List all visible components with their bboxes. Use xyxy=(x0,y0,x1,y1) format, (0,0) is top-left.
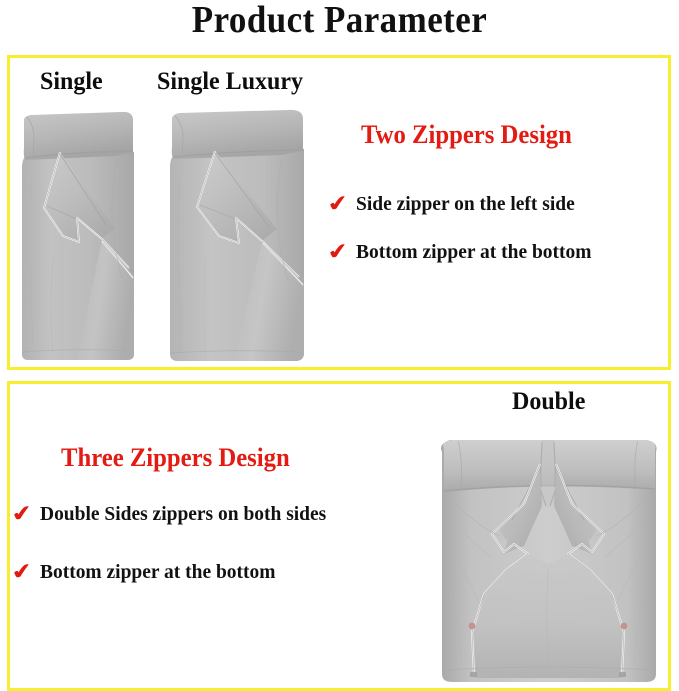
zipper-pull-right xyxy=(621,623,628,630)
bullet-side-zipper: ✔ Side zipper on the left side xyxy=(328,193,587,216)
bed-image-single-luxury xyxy=(166,105,308,363)
bed-label-single-luxury: Single Luxury xyxy=(157,68,303,96)
bullet-text: Bottom zipper at the bottom xyxy=(40,561,275,584)
check-icon: ✔ xyxy=(326,193,349,217)
heading-two-zippers-design: Two Zippers Design xyxy=(361,120,572,150)
bullet-text: Double Sides zippers on both sides xyxy=(40,503,326,526)
bullet-text: Bottom zipper at the bottom xyxy=(356,241,591,264)
check-icon: ✔ xyxy=(10,561,33,585)
bed-image-single xyxy=(17,108,139,363)
bed-label-double: Double xyxy=(512,388,585,416)
page-title: Product Parameter xyxy=(27,0,652,42)
bed-label-single: Single xyxy=(40,68,103,96)
heading-three-zippers-design: Three Zippers Design xyxy=(61,443,290,473)
bullet-bottom-zipper-bottom-panel: ✔ Bottom zipper at the bottom xyxy=(12,561,288,584)
single-bed-illustration xyxy=(17,108,139,363)
check-icon: ✔ xyxy=(326,241,349,265)
single-luxury-bed-illustration xyxy=(166,105,308,363)
zipper-pull-left xyxy=(469,623,476,630)
bullet-double-sides-zippers: ✔ Double Sides zippers on both sides xyxy=(12,503,342,526)
check-icon: ✔ xyxy=(10,503,33,527)
bullet-bottom-zipper-top-panel: ✔ Bottom zipper at the bottom xyxy=(328,241,604,264)
double-bed-illustration xyxy=(428,418,668,686)
bed-image-double xyxy=(428,418,668,686)
bullet-text: Side zipper on the left side xyxy=(356,193,575,216)
